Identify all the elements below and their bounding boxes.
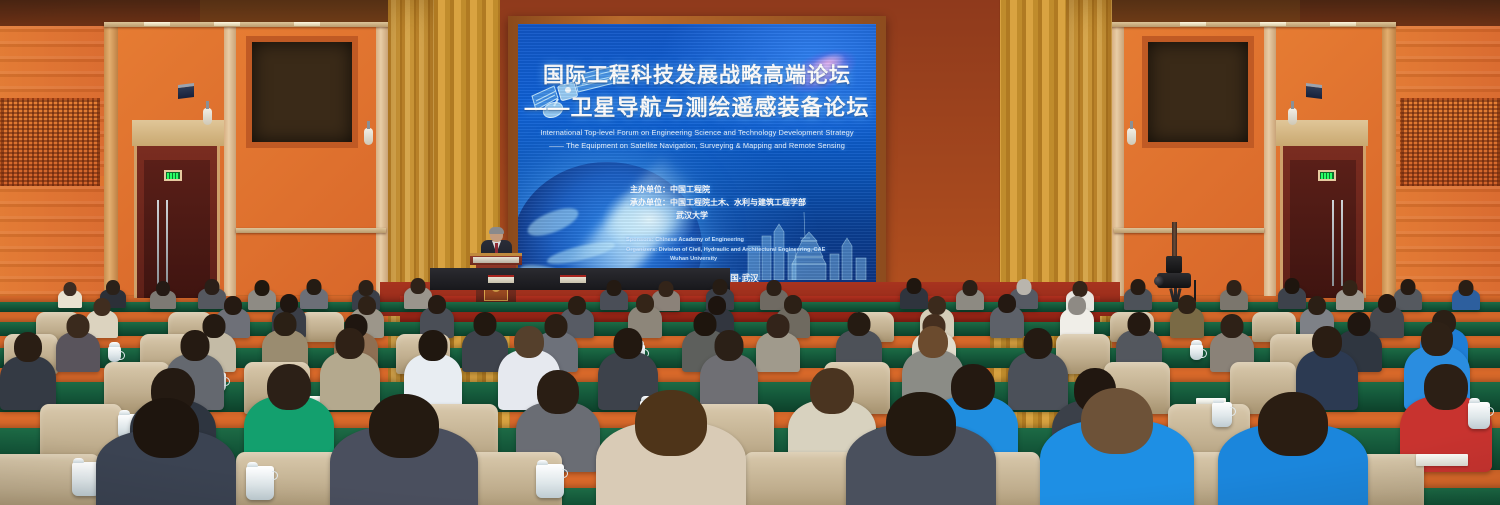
wall-lamp-left-2 [364,128,373,145]
tea-cup [246,466,274,500]
attendee-head [918,326,948,358]
attendee [1218,392,1368,505]
left-dark-recess-panel [246,36,358,148]
organizer-cn: 承办单位：中国工程院土木、水利与建筑工程学部 [630,197,806,210]
attendee [0,332,56,410]
left-acoustic-grille [0,98,100,190]
attendee-head [1017,279,1032,295]
document-paper [1416,454,1468,466]
attendee-head [635,390,707,456]
attendee-head [428,295,446,314]
attendee-head [568,296,586,315]
attendee [58,282,82,308]
attendee-head [1421,322,1453,356]
led-screen-frame: 国际工程科技发展战略高端论坛 ——卫星导航与测绘遥感装备论坛 Internati… [508,16,886,304]
left-door-handle[interactable] [157,200,159,286]
tea-cup [536,464,564,498]
right-molding-upper [1106,22,1396,27]
presenter-tie [495,243,498,253]
attendee-head [1285,278,1300,294]
attendee-head [14,332,42,362]
right-door-handle[interactable] [1341,200,1343,286]
attendee-head [607,280,622,296]
attendee-head [224,296,242,315]
stage-head-table [430,268,730,290]
attendee-head [614,328,643,359]
attendee-head [274,312,297,336]
attendee [600,280,628,310]
attendee-head [1401,279,1416,295]
attendee-head [307,279,322,295]
attendee [756,314,800,372]
attendee-head [255,280,270,296]
attendee-head [715,330,744,361]
exit-sign-right [1318,170,1336,181]
right-pilaster-3 [1112,26,1124,296]
right-acoustic-grille [1400,98,1500,190]
attendee-head [280,294,298,313]
attendee-head [1131,279,1146,295]
forum-title-cn-line2: ——卫星导航与测绘遥感装备论坛 [518,90,876,122]
organizer-en-2: Wuhan University [626,255,825,265]
attendee-head [636,294,654,313]
attendee-head [713,279,728,295]
table-name-card-2 [560,275,586,283]
attendee-head [1459,280,1474,296]
attendee-head [1227,280,1242,296]
attendee-head [784,295,802,314]
attendee-head [767,314,790,338]
attendee-head [1258,392,1328,456]
wall-lamp-right [1288,108,1297,125]
attendee-head [928,296,946,315]
attendee-head [336,328,365,359]
attendee-head [205,279,220,295]
sponsor-cn: 主办单位：中国工程院 [630,184,806,197]
attendee [330,394,478,505]
attendee-head [181,330,210,361]
camera-top-unit [1166,256,1182,273]
forum-subtitle-en-line1: International Top-level Forum on Enginee… [532,127,862,140]
attendee-head [1073,281,1088,297]
organizers-en: Sponsors: Chinese Academy of Engineering… [626,236,825,265]
attendee-head [1424,364,1468,410]
forum-title-cn-line1: 国际工程科技发展战略高端论坛 [518,62,876,90]
attendee [1336,280,1364,310]
attendee-head [267,364,311,410]
right-dark-recess-panel [1142,36,1254,148]
attendee-body [0,356,56,410]
left-pilaster-1 [104,26,118,296]
organizer-en: Organizers: Division of Civil, Hydraulic… [626,246,825,256]
right-door-handle-2[interactable] [1332,200,1334,286]
attendee [150,281,176,309]
presenter-hair [489,227,504,234]
attendee [956,280,984,310]
attendee-head [1068,296,1086,315]
tea-cup [1468,402,1490,429]
tea-cup [1190,344,1203,360]
attendee-head [998,294,1016,313]
attendee-head [474,312,497,336]
attendee-head [411,278,426,294]
attendee-head [156,281,170,296]
attendee [96,398,236,505]
led-screen: 国际工程科技发展战略高端论坛 ——卫星导航与测绘遥感装备论坛 Internati… [518,24,876,298]
attendee-head [106,280,120,295]
attendee-head [133,398,199,458]
attendee [1452,280,1480,310]
attendee-head [64,282,77,296]
attendee-head [1178,295,1196,314]
attendee [1124,279,1152,310]
attendee [1040,388,1194,505]
attendee-head [537,370,579,414]
attendee-head [514,326,544,358]
attendee-head [767,280,782,296]
table-name-card-1 [488,275,514,283]
attendee-head [369,394,439,458]
attendee-head [1378,294,1396,313]
conference-hall-screenshot: 国际工程科技发展战略高端论坛 ——卫星导航与测绘遥感装备论坛 Internati… [0,0,1500,505]
attendee [846,392,996,505]
wall-lamp-left [203,108,212,125]
sponsor-en: Sponsors: Chinese Academy of Engineering [626,236,825,246]
attendee-head [1221,314,1244,338]
attendee-head [419,330,448,361]
left-door-handle-2[interactable] [166,200,168,286]
attendee-head [1308,296,1326,315]
attendee-head [359,280,374,296]
attendee-head [1312,326,1342,358]
left-pilaster-2 [224,26,236,296]
attendee-head [907,278,922,294]
left-pilaster-3 [376,26,388,296]
attendee-head [358,296,376,315]
attendee [1220,280,1248,310]
attendee [1170,295,1204,338]
forum-subtitle-en: International Top-level Forum on Enginee… [532,127,862,153]
attendee-head [67,314,90,338]
attendee-body [56,332,100,372]
attendee [596,390,746,505]
left-molding-upper [104,22,394,27]
attendee-head [848,312,871,336]
attendee-head [963,280,978,296]
forum-subtitle-en-line2: —— The Equipment on Satellite Navigation… [532,140,862,153]
organizer-cn-2: 武汉大学 [630,210,806,223]
right-pilaster-2 [1264,26,1276,296]
chair [744,452,856,505]
attendee-head [886,392,956,456]
attendee-head [1081,388,1153,454]
attendee-head [1024,328,1053,359]
wall-speaker-right [1306,83,1322,99]
attendee-head [1128,312,1151,336]
left-molding-lower [236,228,386,233]
exit-sign-left [164,170,182,181]
attendee-head [1343,280,1358,296]
wall-speaker-left [178,83,194,99]
attendee-body [756,332,800,372]
tea-cup [108,346,121,362]
podium-nameplate [473,257,519,263]
audience-area [0,276,1500,505]
organizers-cn: 主办单位：中国工程院 承办单位：中国工程院土木、水利与建筑工程学部 武汉大学 [630,184,806,223]
wall-lamp-right-2 [1127,128,1136,145]
right-pilaster-1 [1382,26,1396,296]
attendee [56,314,100,372]
